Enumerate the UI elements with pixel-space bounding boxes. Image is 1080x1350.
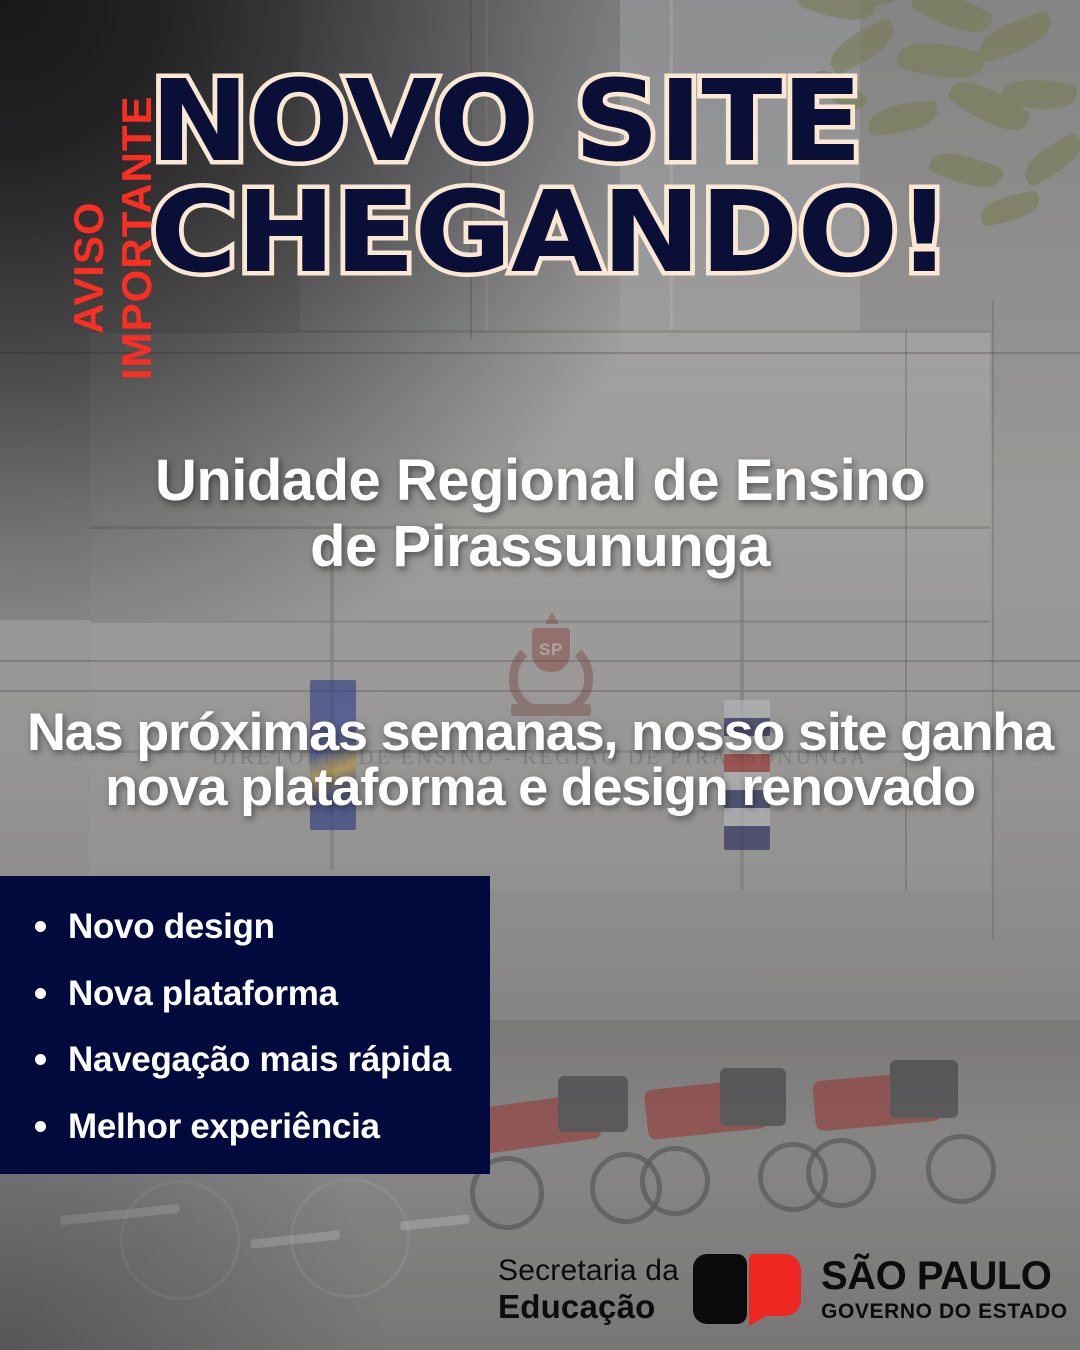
list-item: Novo design xyxy=(30,908,480,947)
notice-vertical-label: AVISO IMPORTANTE xyxy=(0,0,135,400)
headline-line-2: CHEGANDO! xyxy=(150,181,1080,286)
lead-paragraph: Nas próximas semanas, nosso site ganha n… xyxy=(0,706,1080,815)
subtitle-line-1: Unidade Regional de Ensino xyxy=(60,448,1020,514)
poster-content: AVISO IMPORTANTE NOVO SITE CHEGANDO! Uni… xyxy=(0,0,1080,1350)
subtitle-line-2: de Pirassununga xyxy=(60,514,1020,580)
list-item: Melhor experiência xyxy=(30,1108,480,1147)
feature-label: Nova plataforma xyxy=(68,975,338,1014)
bullet-icon xyxy=(35,988,46,999)
bullet-icon xyxy=(35,1054,46,1065)
page-title: NOVO SITE CHEGANDO! xyxy=(150,70,1055,287)
list-item: Navegação mais rápida xyxy=(30,1041,480,1080)
governo-estado-wordmark: SÃO PAULO GOVERNO DO ESTADO xyxy=(821,1256,1068,1322)
sp-logo-icon xyxy=(693,1252,801,1326)
bullet-icon xyxy=(35,921,46,932)
notice-line-1: AVISO xyxy=(68,201,110,334)
sp-logo-s-icon xyxy=(693,1254,747,1324)
headline-line-1: NOVO SITE xyxy=(150,70,1080,175)
lead-line-2: nova plataforma e design renovado xyxy=(0,761,1080,816)
feature-list-box: Novo design Nova plataforma Navegação ma… xyxy=(0,876,490,1174)
secretaria-line-1: Secretaria da xyxy=(498,1256,679,1286)
subtitle: Unidade Regional de Ensino de Pirassunun… xyxy=(60,448,1020,579)
gov-line-2: GOVERNO DO ESTADO xyxy=(821,1301,1068,1322)
gov-line-1: SÃO PAULO xyxy=(821,1256,1068,1296)
bullet-icon xyxy=(35,1121,46,1132)
lead-line-1: Nas próximas semanas, nosso site ganha xyxy=(0,706,1080,761)
sp-logo-p-speech-bubble-icon xyxy=(749,1254,801,1316)
footer-logo-lockup: Secretaria da Educação SÃO PAULO GOVERNO… xyxy=(498,1252,1068,1326)
secretaria-line-2: Educação xyxy=(498,1290,679,1323)
feature-list: Novo design Nova plataforma Navegação ma… xyxy=(30,908,480,1174)
feature-label: Navegação mais rápida xyxy=(68,1041,451,1080)
feature-label: Melhor experiência xyxy=(68,1108,380,1147)
feature-label: Novo design xyxy=(68,908,275,947)
list-item: Nova plataforma xyxy=(30,975,480,1014)
poster-canvas: SP DIRETORIA DE ENSINO - REGIÃO DE PIRAS… xyxy=(0,0,1080,1350)
secretaria-educacao-wordmark: Secretaria da Educação xyxy=(498,1256,679,1323)
